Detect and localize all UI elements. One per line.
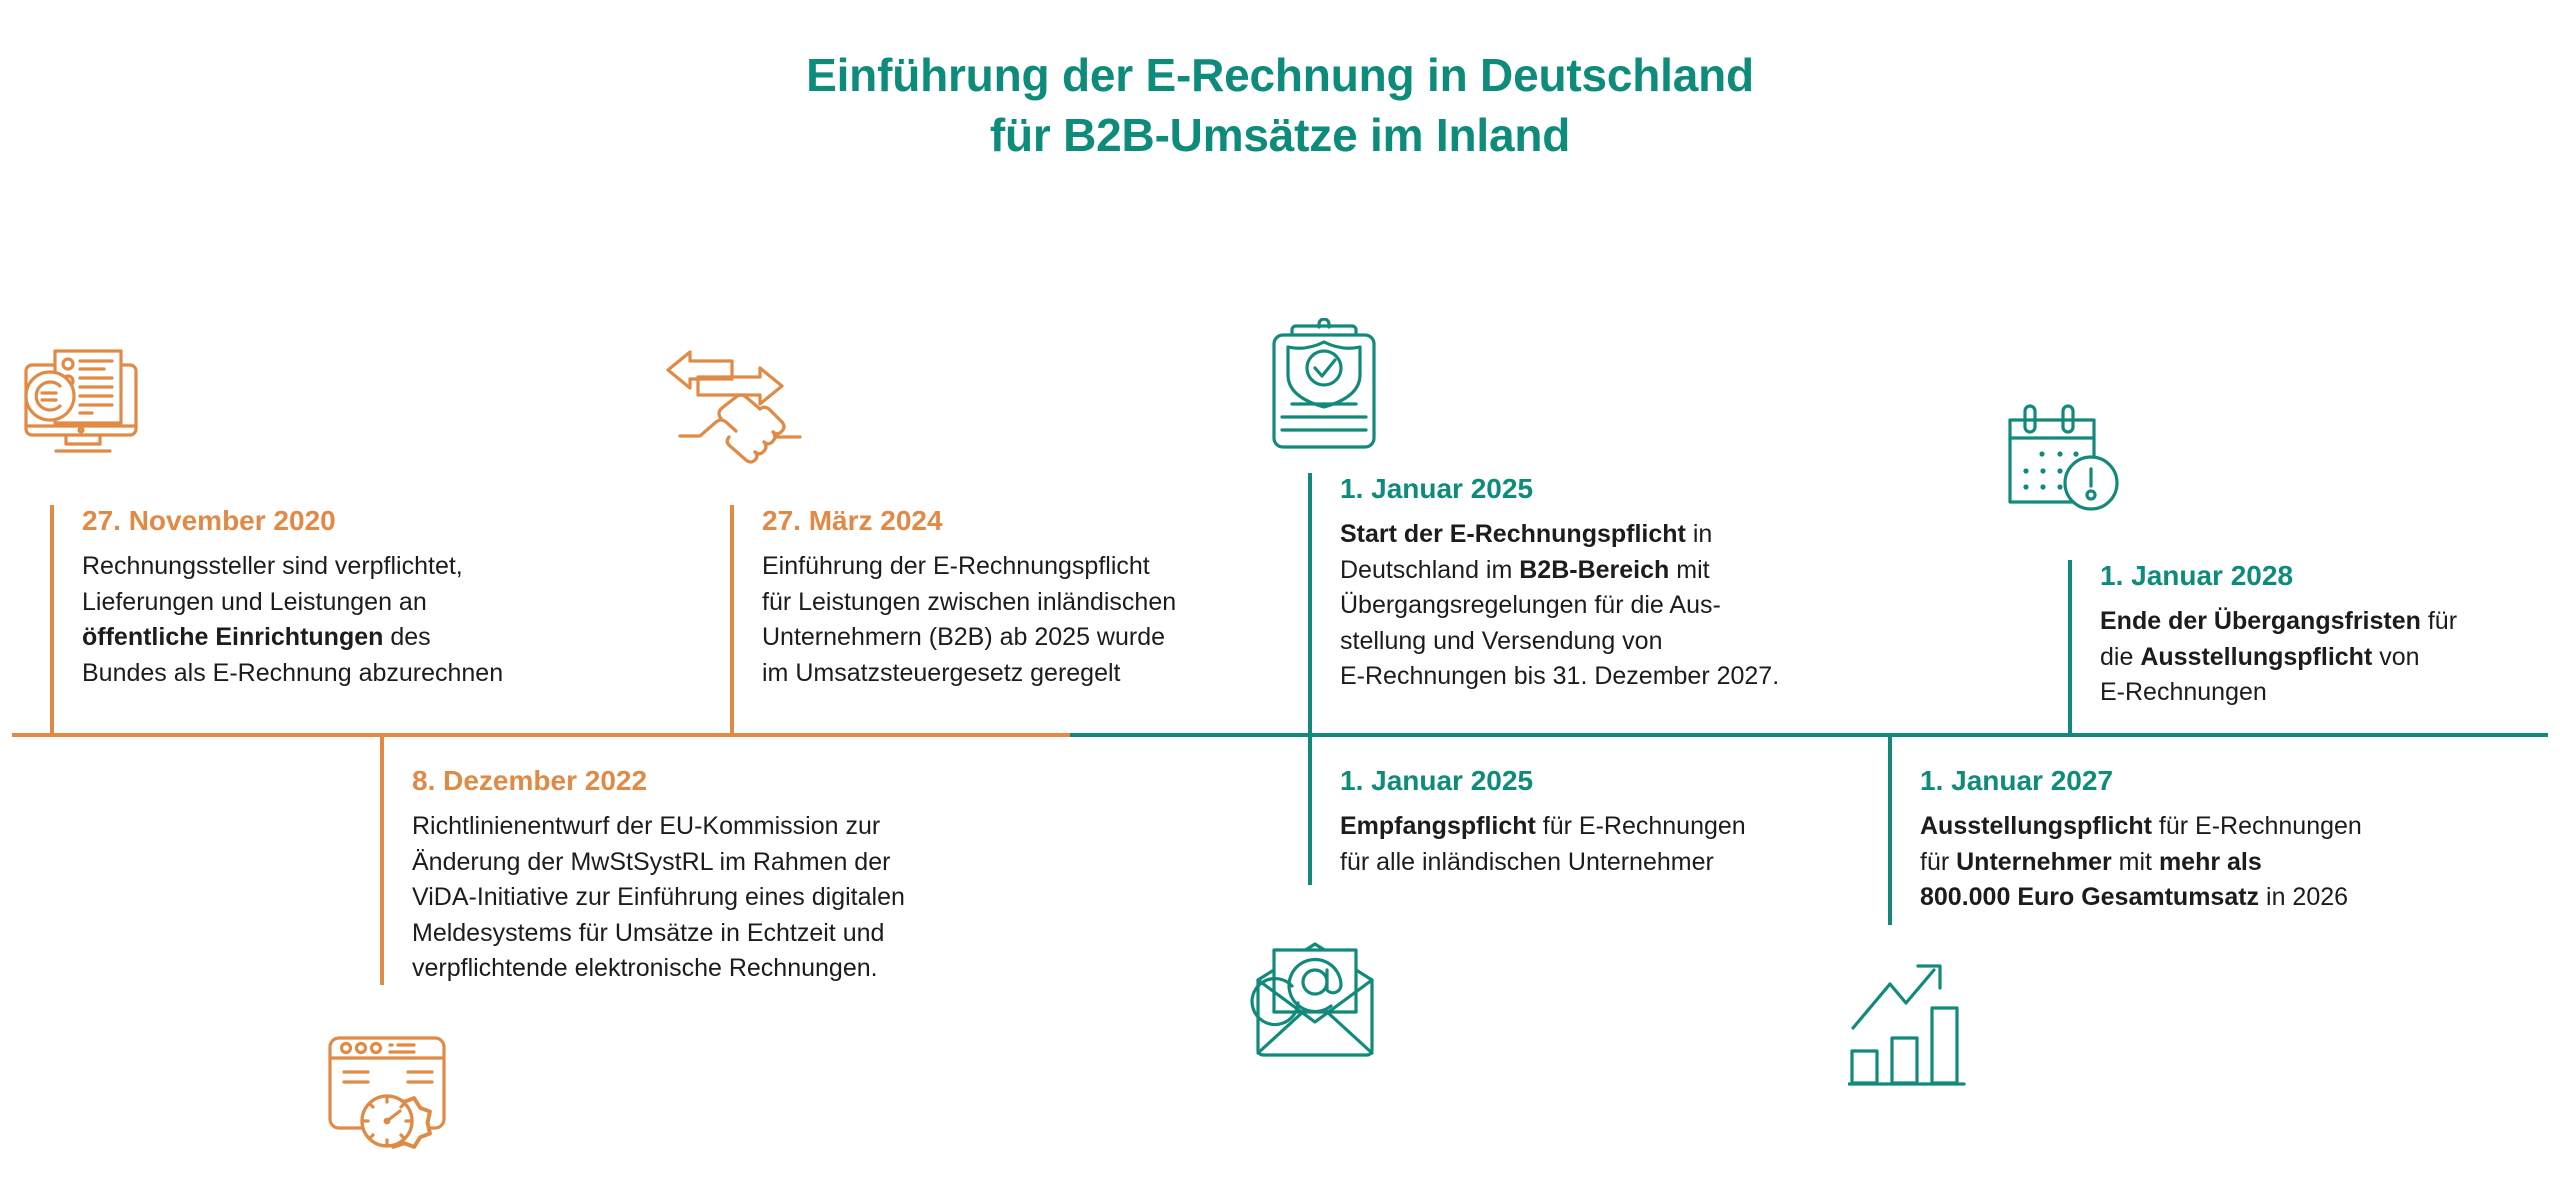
entry-date: 1. Januar 2025 bbox=[1340, 765, 1928, 797]
calendar-alert-icon bbox=[1998, 398, 2148, 538]
entry-rule bbox=[50, 505, 54, 735]
clipboard-shield-check-icon bbox=[1268, 318, 1408, 466]
monitor-invoice-euro-icon bbox=[8, 338, 168, 478]
entry-rule bbox=[1308, 735, 1312, 885]
entry-body: Einführung der E-Rechnungspflichtfür Lei… bbox=[762, 549, 1330, 691]
browser-gear-icon bbox=[308, 1028, 468, 1173]
entry-rule bbox=[1888, 735, 1892, 925]
timeline-entry-2024-03-27[interactable]: 27. März 2024 Einführung der E-Rechnungs… bbox=[730, 505, 1330, 735]
entry-rule bbox=[1308, 473, 1312, 735]
entry-body: Richtlinienentwurf der EU-Kommission zur… bbox=[412, 809, 1080, 987]
title-line-1: Einführung der E-Rechnung in Deutschland bbox=[0, 46, 2560, 106]
entry-date: 1. Januar 2025 bbox=[1340, 473, 1928, 505]
title-line-2: für B2B-Umsätze im Inland bbox=[0, 106, 2560, 166]
entry-rule bbox=[380, 735, 384, 985]
timeline-entry-2022-12-08[interactable]: 8. Dezember 2022 Richtlinienentwurf der … bbox=[380, 765, 1080, 995]
entry-body: Ausstellungspflicht für E-Rechnungenfür … bbox=[1920, 809, 2528, 916]
envelope-at-icon bbox=[1248, 938, 1408, 1078]
entry-rule bbox=[2068, 560, 2072, 735]
handshake-exchange-icon bbox=[660, 338, 820, 478]
entry-date: 8. Dezember 2022 bbox=[412, 765, 1080, 797]
entry-date: 27. November 2020 bbox=[82, 505, 690, 537]
entry-body: Ende der Übergangsfristen fürdie Ausstel… bbox=[2100, 604, 2558, 711]
growth-bar-chart-icon bbox=[1848, 958, 2008, 1093]
timeline-entry-2020-11-27[interactable]: 27. November 2020 Rechnungssteller sind … bbox=[50, 505, 690, 735]
entry-date: 27. März 2024 bbox=[762, 505, 1330, 537]
page-title: Einführung der E-Rechnung in Deutschland… bbox=[0, 46, 2560, 166]
entry-date: 1. Januar 2027 bbox=[1920, 765, 2528, 797]
entry-body: Start der E-Rechnungspflicht inDeutschla… bbox=[1340, 517, 1928, 695]
entry-rule bbox=[730, 505, 734, 735]
timeline-entry-2025-01-01-empfang[interactable]: 1. Januar 2025 Empfangspflicht für E-Rec… bbox=[1308, 765, 1928, 895]
entry-date: 1. Januar 2028 bbox=[2100, 560, 2558, 592]
timeline-entry-2025-01-01-start[interactable]: 1. Januar 2025 Start der E-Rechnungspfli… bbox=[1308, 473, 1928, 735]
entry-body: Empfangspflicht für E-Rechnungenfür alle… bbox=[1340, 809, 1928, 880]
timeline-entry-2027-01-01[interactable]: 1. Januar 2027 Ausstellungspflicht für E… bbox=[1888, 765, 2528, 935]
entry-body: Rechnungssteller sind verpflichtet,Liefe… bbox=[82, 549, 690, 691]
timeline-entry-2028-01-01[interactable]: 1. Januar 2028 Ende der Übergangsfristen… bbox=[2068, 560, 2558, 735]
